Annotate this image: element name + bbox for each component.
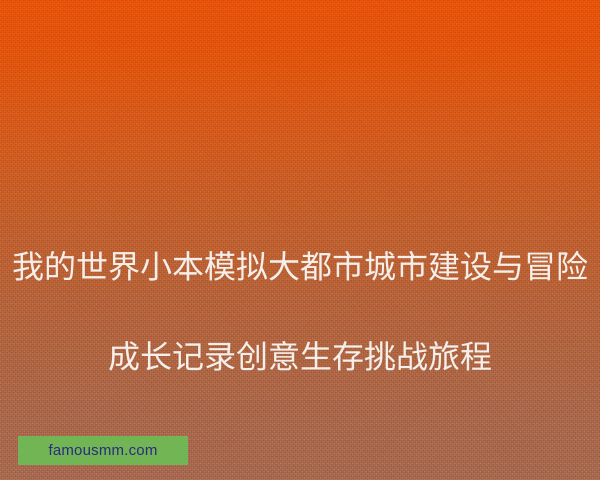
banner-canvas: 我的世界小本模拟大都市城市建设与冒险 成长记录创意生存挑战旅程 famousmm…	[0, 0, 600, 480]
headline-line-1: 我的世界小本模拟大都市城市建设与冒险	[0, 245, 600, 290]
headline-line-2: 成长记录创意生存挑战旅程	[0, 335, 600, 380]
watermark-label: famousmm.com	[48, 443, 157, 458]
watermark-badge: famousmm.com	[18, 436, 188, 465]
headline-title: 我的世界小本模拟大都市城市建设与冒险 成长记录创意生存挑战旅程	[0, 200, 600, 425]
